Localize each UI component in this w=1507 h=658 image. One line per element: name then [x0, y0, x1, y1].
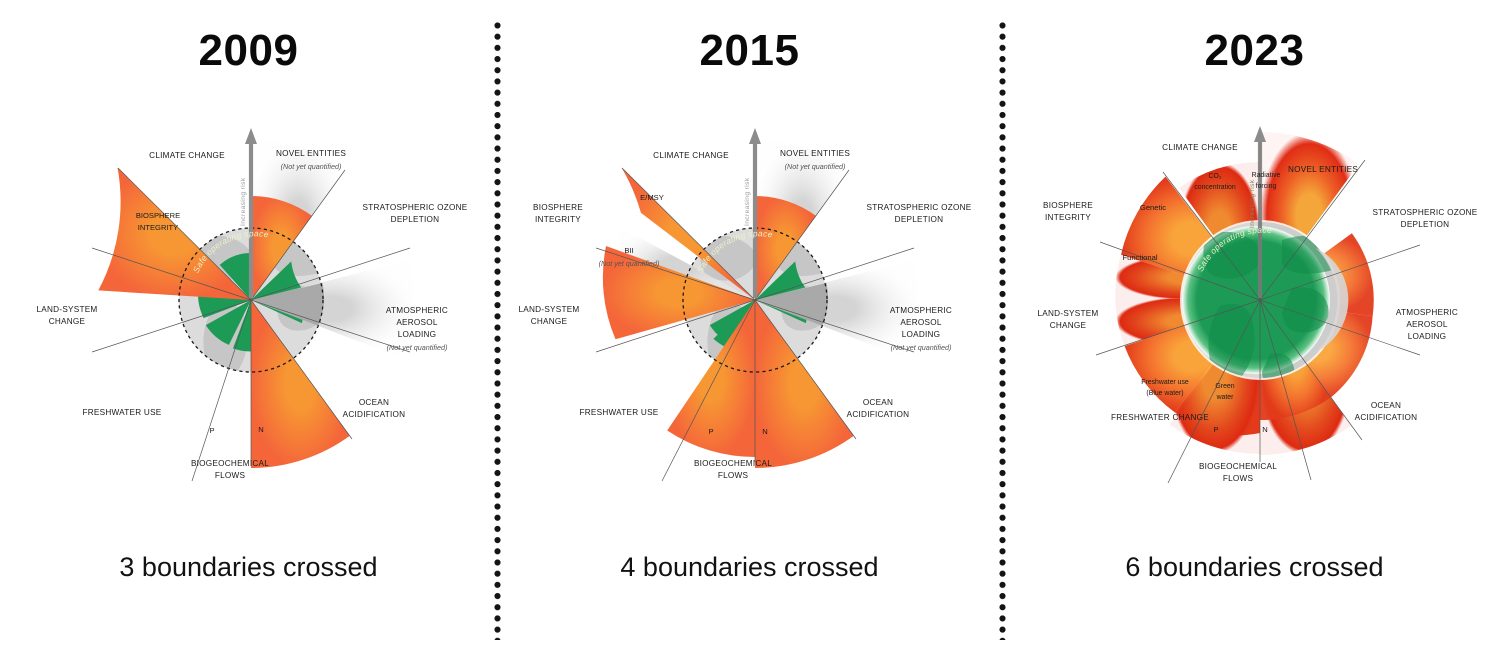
diagram-2009: Increasing risk Safe operating space CLI… [0, 110, 497, 530]
label-aerosol-line1: ATMOSPHERIC [1395, 308, 1457, 317]
label-ozone-line1: STRATOSPHERIC OZONE [362, 203, 467, 212]
label-land-line2: CHANGE [1049, 321, 1086, 330]
label-land-line1: LAND-SYSTEM [36, 305, 97, 314]
label-ozone-line2: DEPLETION [894, 215, 943, 224]
label-novel-entities-sub: (Not yet quantified) [784, 162, 845, 171]
caption-2015: 4 boundaries crossed [497, 552, 1002, 583]
label-n: N [258, 425, 263, 434]
diagram-2023: Increasing risk Safe operating space CLI… [1002, 110, 1507, 530]
risk-axis-label: Increasing risk [240, 177, 247, 226]
label-co2-line1: CO₂ [1208, 173, 1221, 180]
label-biogeo-line1: BIOGEOCHEMICAL [693, 459, 771, 468]
year-title-2009: 2009 [0, 26, 497, 76]
label-biogeo-line1: BIOGEOCHEMICAL [190, 459, 268, 468]
label-p: P [1213, 425, 1218, 434]
label-aerosol-line2: AEROSOL [900, 318, 942, 327]
label-ocean-line2: ACIDIFICATION [1354, 413, 1417, 422]
diagram-2015: Increasing risk Safe operating space CLI… [497, 110, 1002, 530]
label-biogeo-line2: FLOWS [214, 471, 245, 480]
label-ocean-line1: OCEAN [862, 398, 892, 407]
label-biosphere-line1: BIOSPHERE [532, 203, 582, 212]
label-bii: BII [624, 246, 633, 255]
label-biogeo-line2: FLOWS [1222, 474, 1253, 483]
planetary-boundaries-svg-2009: Increasing risk Safe operating space CLI… [19, 110, 479, 530]
label-p: P [209, 426, 214, 435]
label-ocean-line2: ACIDIFICATION [342, 410, 405, 419]
label-climate-change: CLIMATE CHANGE [149, 151, 225, 160]
label-freshwater-use: FRESHWATER USE [82, 408, 161, 417]
caption-2023: 6 boundaries crossed [1002, 552, 1507, 583]
label-biosphere-line1: BIOSPHERE [135, 211, 179, 220]
year-title-2023: 2023 [1002, 26, 1507, 76]
label-genetic: Genetic [1139, 203, 1165, 212]
label-bii-sub: (Not yet quantified) [598, 259, 659, 268]
label-biosphere-line1: BIOSPHERE [1042, 201, 1092, 210]
label-novel-entities: NOVEL ENTITIES [779, 149, 849, 158]
label-aerosol-line1: ATMOSPHERIC [385, 306, 447, 315]
label-ozone-line1: STRATOSPHERIC OZONE [1372, 208, 1477, 217]
label-n: N [762, 427, 767, 436]
label-aerosol-line3: LOADING [397, 330, 436, 339]
label-radiative-line1: Radiative [1251, 172, 1280, 179]
label-ozone-line1: STRATOSPHERIC OZONE [866, 203, 971, 212]
label-aerosol-line3: LOADING [901, 330, 940, 339]
label-climate-change: CLIMATE CHANGE [1162, 143, 1238, 152]
label-biosphere-line2: INTEGRITY [535, 215, 581, 224]
label-land-line1: LAND-SYSTEM [1037, 309, 1098, 318]
label-land-line1: LAND-SYSTEM [518, 305, 579, 314]
label-biogeo-line1: BIOGEOCHEMICAL [1198, 462, 1276, 471]
risk-axis-label: Increasing risk [744, 177, 751, 226]
planetary-boundaries-svg-2023: Increasing risk Safe operating space CLI… [1020, 110, 1490, 530]
label-aerosol-line1: ATMOSPHERIC [889, 306, 951, 315]
panel-divider-2 [999, 22, 1006, 640]
label-biosphere-line2: INTEGRITY [1045, 213, 1091, 222]
label-land-line2: CHANGE [530, 317, 567, 326]
panel-2015: 2015 [497, 0, 1002, 658]
label-ocean-line1: OCEAN [358, 398, 388, 407]
panel-divider-1 [494, 22, 501, 640]
figure-root: 2009 [0, 0, 1507, 658]
label-green-water-line1: Green [1215, 383, 1234, 390]
panel-2009: 2009 [0, 0, 497, 658]
label-land-line2: CHANGE [48, 317, 85, 326]
label-ozone-line2: DEPLETION [390, 215, 439, 224]
label-ozone-line2: DEPLETION [1400, 220, 1449, 229]
label-functional: Functional [1122, 253, 1157, 262]
label-freshwater-use: FRESHWATER USE [579, 408, 658, 417]
label-ocean-line1: OCEAN [1370, 401, 1400, 410]
label-freshwater-blue-line2: (Blue water) [1146, 390, 1183, 397]
label-p: P [708, 427, 713, 436]
label-novel-entities: NOVEL ENTITIES [275, 149, 345, 158]
label-aerosol-sub: (Not yet quantified) [386, 343, 447, 352]
label-aerosol-line2: AEROSOL [396, 318, 438, 327]
label-biosphere-line2: INTEGRITY [137, 223, 178, 232]
label-aerosol-line3: LOADING [1407, 332, 1446, 341]
label-aerosol-sub: (Not yet quantified) [890, 343, 951, 352]
label-aerosol-line2: AEROSOL [1406, 320, 1448, 329]
label-freshwater-blue-line1: Freshwater use [1141, 379, 1189, 386]
label-co2-line2: concentration [1194, 184, 1236, 191]
label-n: N [1262, 425, 1267, 434]
label-novel-entities-sub: (Not yet quantified) [280, 162, 341, 171]
label-ocean-line2: ACIDIFICATION [846, 410, 909, 419]
label-green-water-line2: water [1215, 394, 1234, 401]
year-title-2015: 2015 [497, 26, 1002, 76]
label-biogeo-line2: FLOWS [717, 471, 748, 480]
label-emsy: E/MSY [640, 193, 664, 202]
planetary-boundaries-svg-2015: Increasing risk Safe operating space CLI… [515, 110, 985, 530]
caption-2009: 3 boundaries crossed [0, 552, 497, 583]
label-novel-entities: NOVEL ENTITIES [1287, 165, 1357, 174]
label-climate-change: CLIMATE CHANGE [653, 151, 729, 160]
panel-2023: 2023 [1002, 0, 1507, 658]
label-radiative-line2: forcing [1255, 183, 1276, 190]
label-freshwater-change: FRESHWATER CHANGE [1111, 413, 1209, 422]
